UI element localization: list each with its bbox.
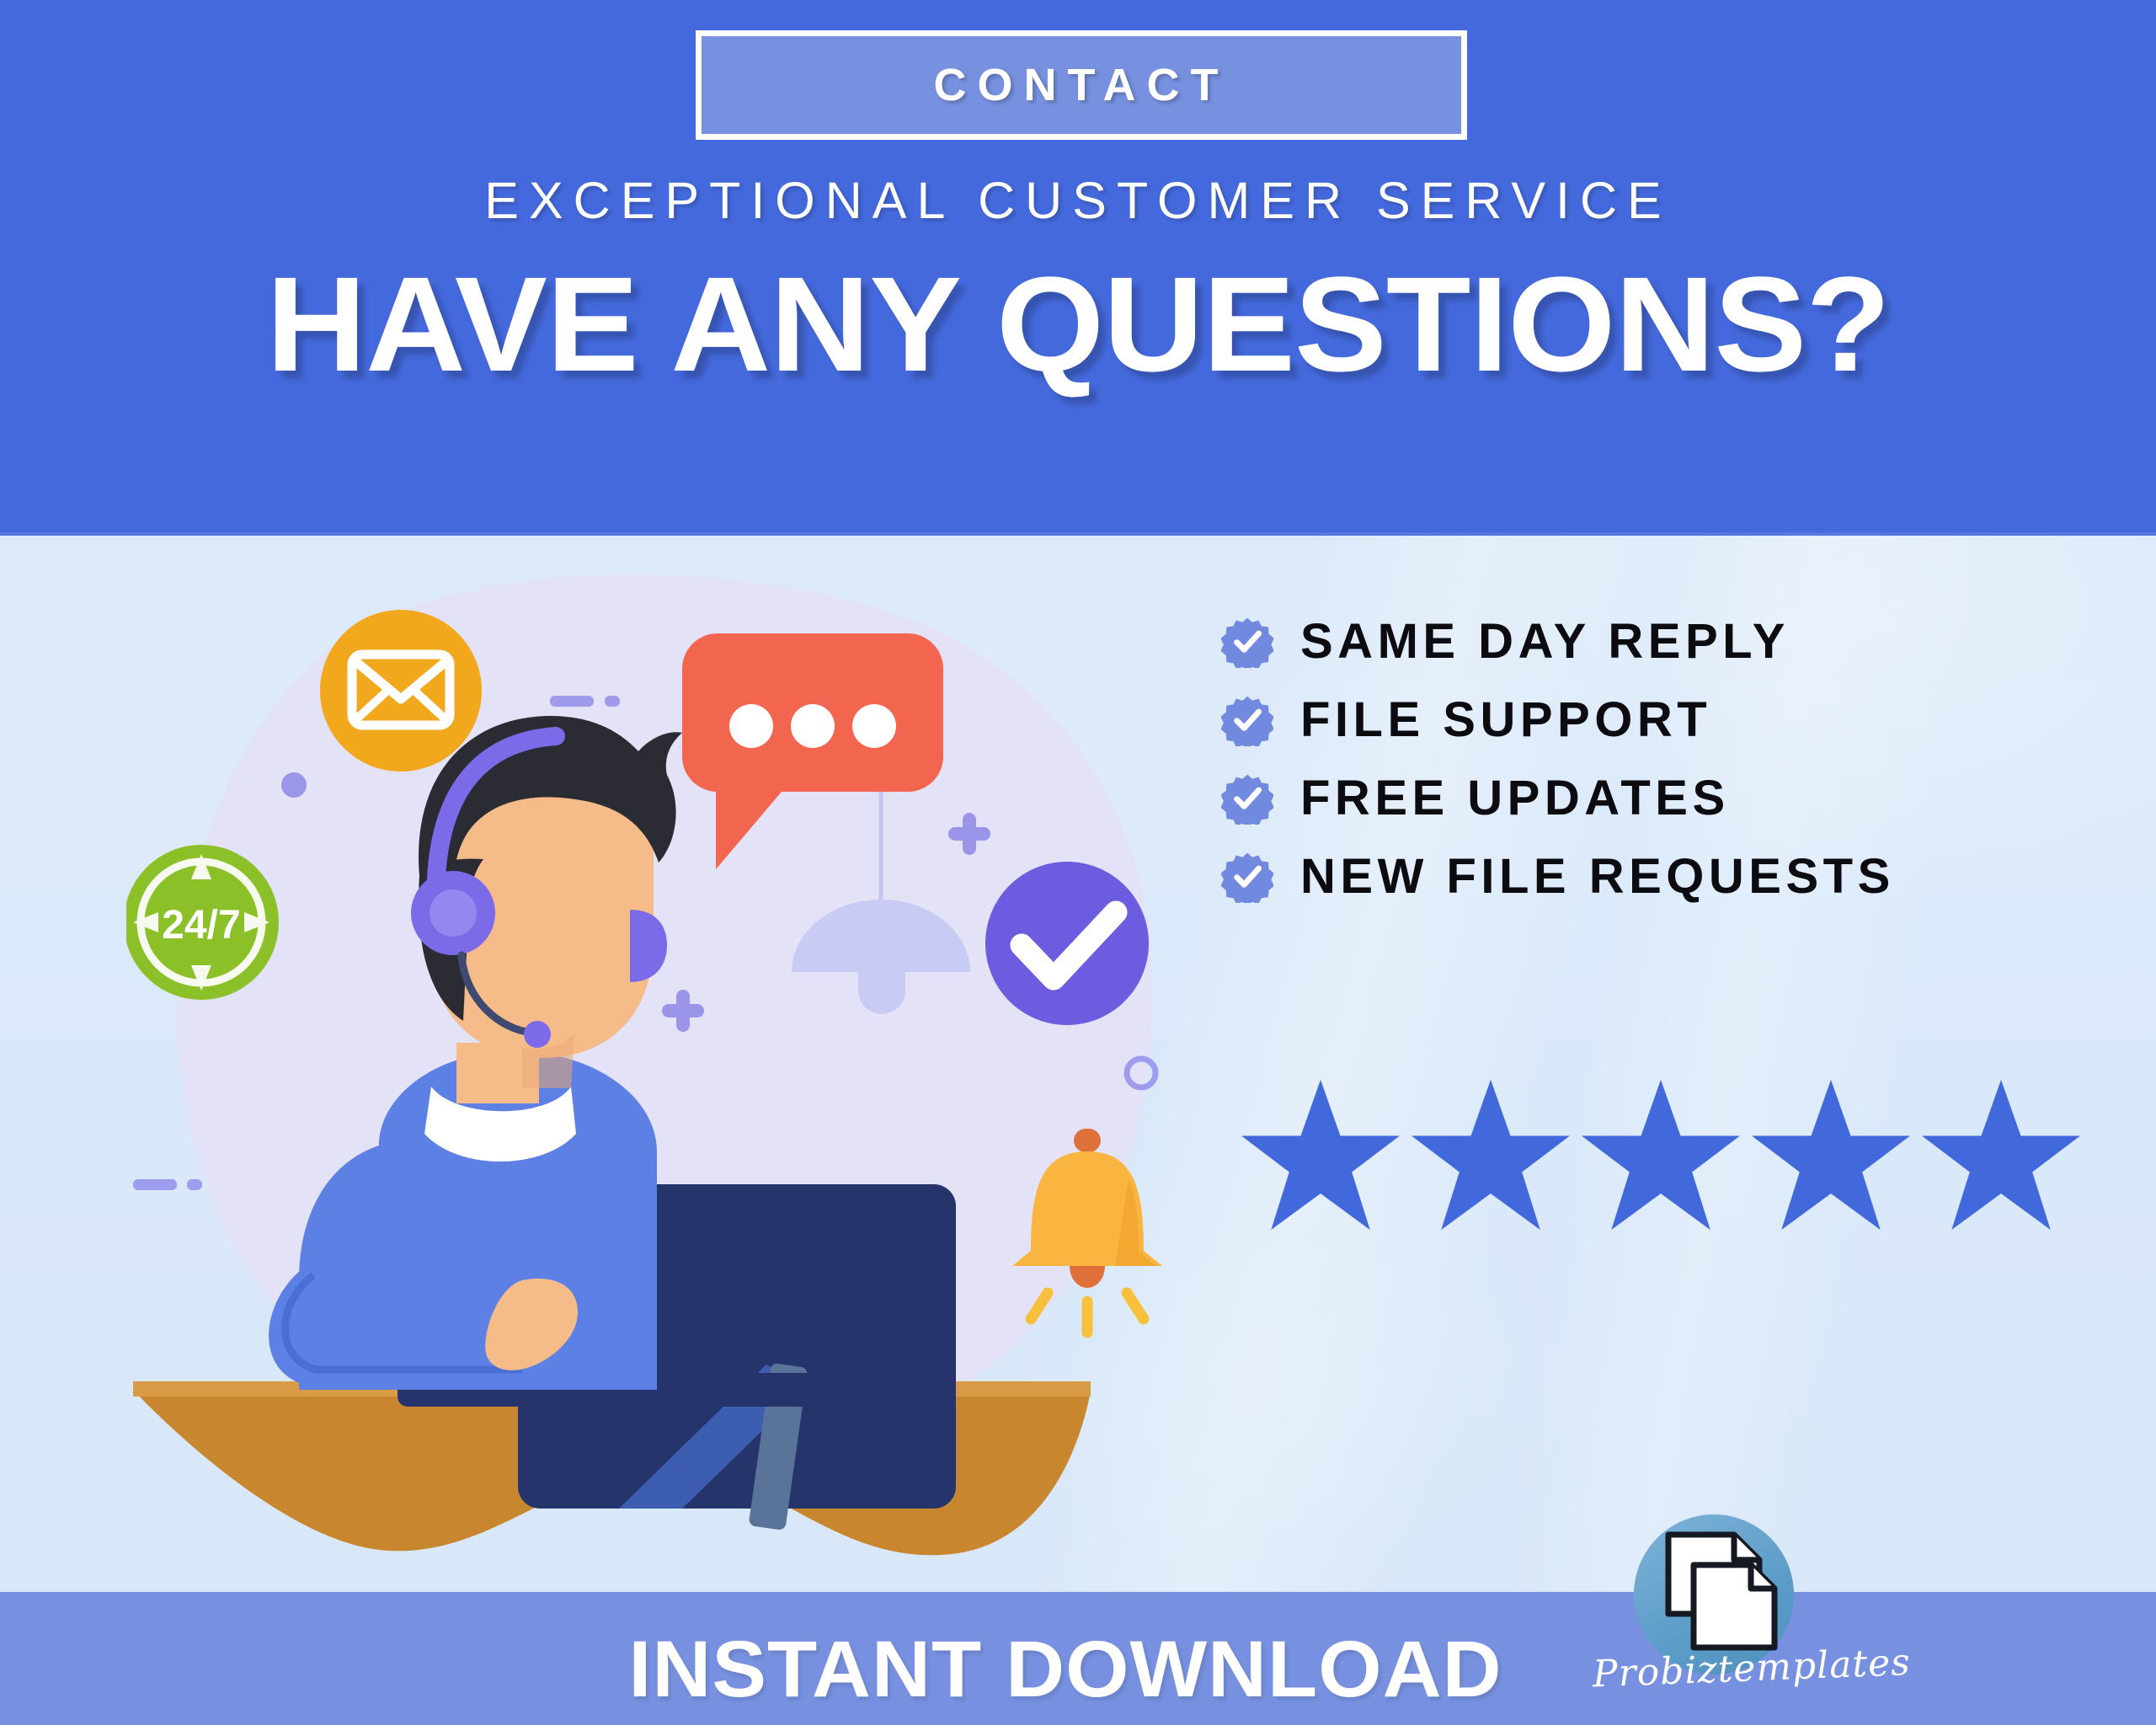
email-icon bbox=[320, 610, 482, 772]
page-title: HAVE ANY QUESTIONS? bbox=[0, 257, 2156, 392]
poster-canvas: CONTACT EXCEPTIONAL CUSTOMER SERVICE HAV… bbox=[0, 0, 2156, 1725]
list-item: FREE UPDATES bbox=[1221, 759, 2080, 837]
list-item: FILE SUPPORT bbox=[1221, 681, 2080, 759]
star-icon bbox=[1919, 1076, 2084, 1233]
feature-label: SAME DAY REPLY bbox=[1300, 613, 1790, 670]
badge-247: 24/7 bbox=[126, 845, 279, 1000]
verified-check-icon bbox=[985, 862, 1149, 1025]
header-subtitle: EXCEPTIONAL CUSTOMER SERVICE bbox=[0, 171, 2156, 230]
instant-download-label: INSTANT DOWNLOAD bbox=[572, 1624, 1560, 1716]
brand-logo: Probiztemplates bbox=[1613, 1514, 1857, 1725]
customer-support-illustration: 24/7 bbox=[126, 539, 1230, 1600]
feature-label: FREE UPDATES bbox=[1300, 770, 1730, 826]
star-icon bbox=[1578, 1076, 1743, 1233]
star-icon bbox=[1748, 1076, 1913, 1233]
feature-list: SAME DAY REPLY FILE SUPPORT FREE UPDATES bbox=[1221, 602, 2080, 916]
contact-eyebrow-label: CONTACT bbox=[934, 59, 1230, 111]
rating-stars bbox=[1238, 1076, 2084, 1233]
svg-text:24/7: 24/7 bbox=[162, 903, 240, 948]
feature-label: NEW FILE REQUESTS bbox=[1300, 848, 1895, 905]
check-badge-icon bbox=[1221, 616, 1273, 668]
contact-eyebrow-box: CONTACT bbox=[696, 30, 1467, 140]
check-badge-icon bbox=[1221, 851, 1273, 903]
feature-label: FILE SUPPORT bbox=[1300, 692, 1711, 748]
check-badge-icon bbox=[1221, 772, 1273, 825]
list-item: SAME DAY REPLY bbox=[1221, 602, 2080, 681]
star-icon bbox=[1408, 1076, 1573, 1233]
documents-icon bbox=[1662, 1530, 1780, 1656]
check-badge-icon bbox=[1221, 694, 1273, 746]
list-item: NEW FILE REQUESTS bbox=[1221, 837, 2080, 916]
star-icon bbox=[1238, 1076, 1403, 1233]
brand-name-label: Probiztemplates bbox=[1592, 1642, 1880, 1696]
